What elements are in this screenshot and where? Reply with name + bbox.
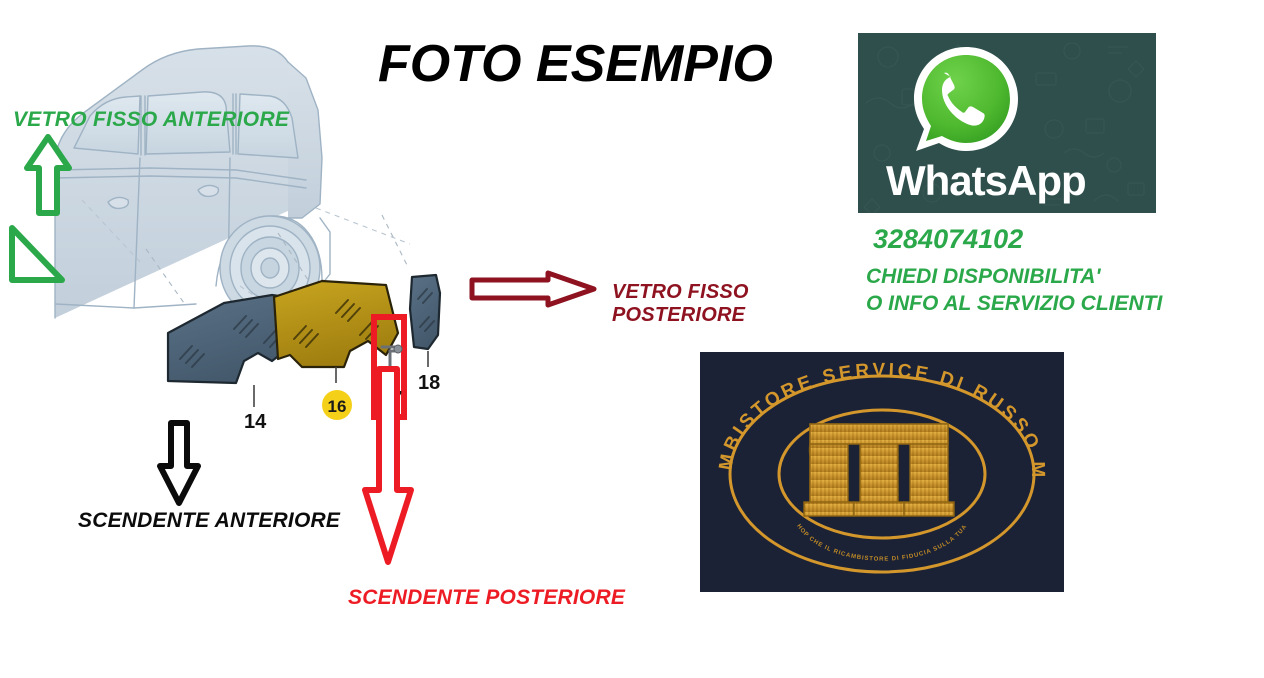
part-14-glass: 14 xyxy=(168,295,290,433)
label-vetro-fisso-posteriore: VETRO FISSO POSTERIORE xyxy=(612,281,749,327)
whatsapp-banner: WhatsApp xyxy=(858,33,1156,213)
contact-line-2: O INFO AL SERVIZIO CLIENTI xyxy=(866,292,1162,316)
part-18-glass: 18 xyxy=(410,275,440,394)
part-number-14: 14 xyxy=(244,411,267,433)
arrow-right-darkred-icon xyxy=(468,270,598,308)
arrow-down-red-icon xyxy=(362,366,414,566)
page-title: FOTO ESEMPIO xyxy=(378,34,773,94)
label-vetro-fisso-posteriore-line2: POSTERIORE xyxy=(612,304,749,327)
label-vetro-fisso-anteriore: VETRO FISSO ANTERIORE xyxy=(13,108,289,132)
label-vetro-fisso-posteriore-line1: VETRO FISSO xyxy=(612,281,749,304)
exploded-glass-parts: 14 16 17 xyxy=(150,255,490,455)
triangle-green-icon xyxy=(8,224,66,284)
contact-phone-number: 3284074102 xyxy=(873,224,1023,255)
part-number-18: 18 xyxy=(418,372,440,394)
arrow-down-black-icon xyxy=(157,420,201,506)
label-scendente-anteriore: SCENDENTE ANTERIORE xyxy=(78,509,340,533)
shop-logo-banner: MRICAMBISTORE SERVICE DI RUSSO MARCO IL … xyxy=(700,352,1064,592)
arrow-up-green-icon xyxy=(24,134,72,216)
whatsapp-phone-bubble-icon xyxy=(906,41,1026,161)
label-scendente-posteriore: SCENDENTE POSTERIORE xyxy=(348,586,625,610)
contact-line-1: CHIEDI DISPONIBILITA' xyxy=(866,265,1100,289)
part-number-16: 16 xyxy=(328,397,347,416)
screenshot-canvas: 14 16 17 xyxy=(0,0,1264,678)
whatsapp-wordmark: WhatsApp xyxy=(886,157,1086,205)
